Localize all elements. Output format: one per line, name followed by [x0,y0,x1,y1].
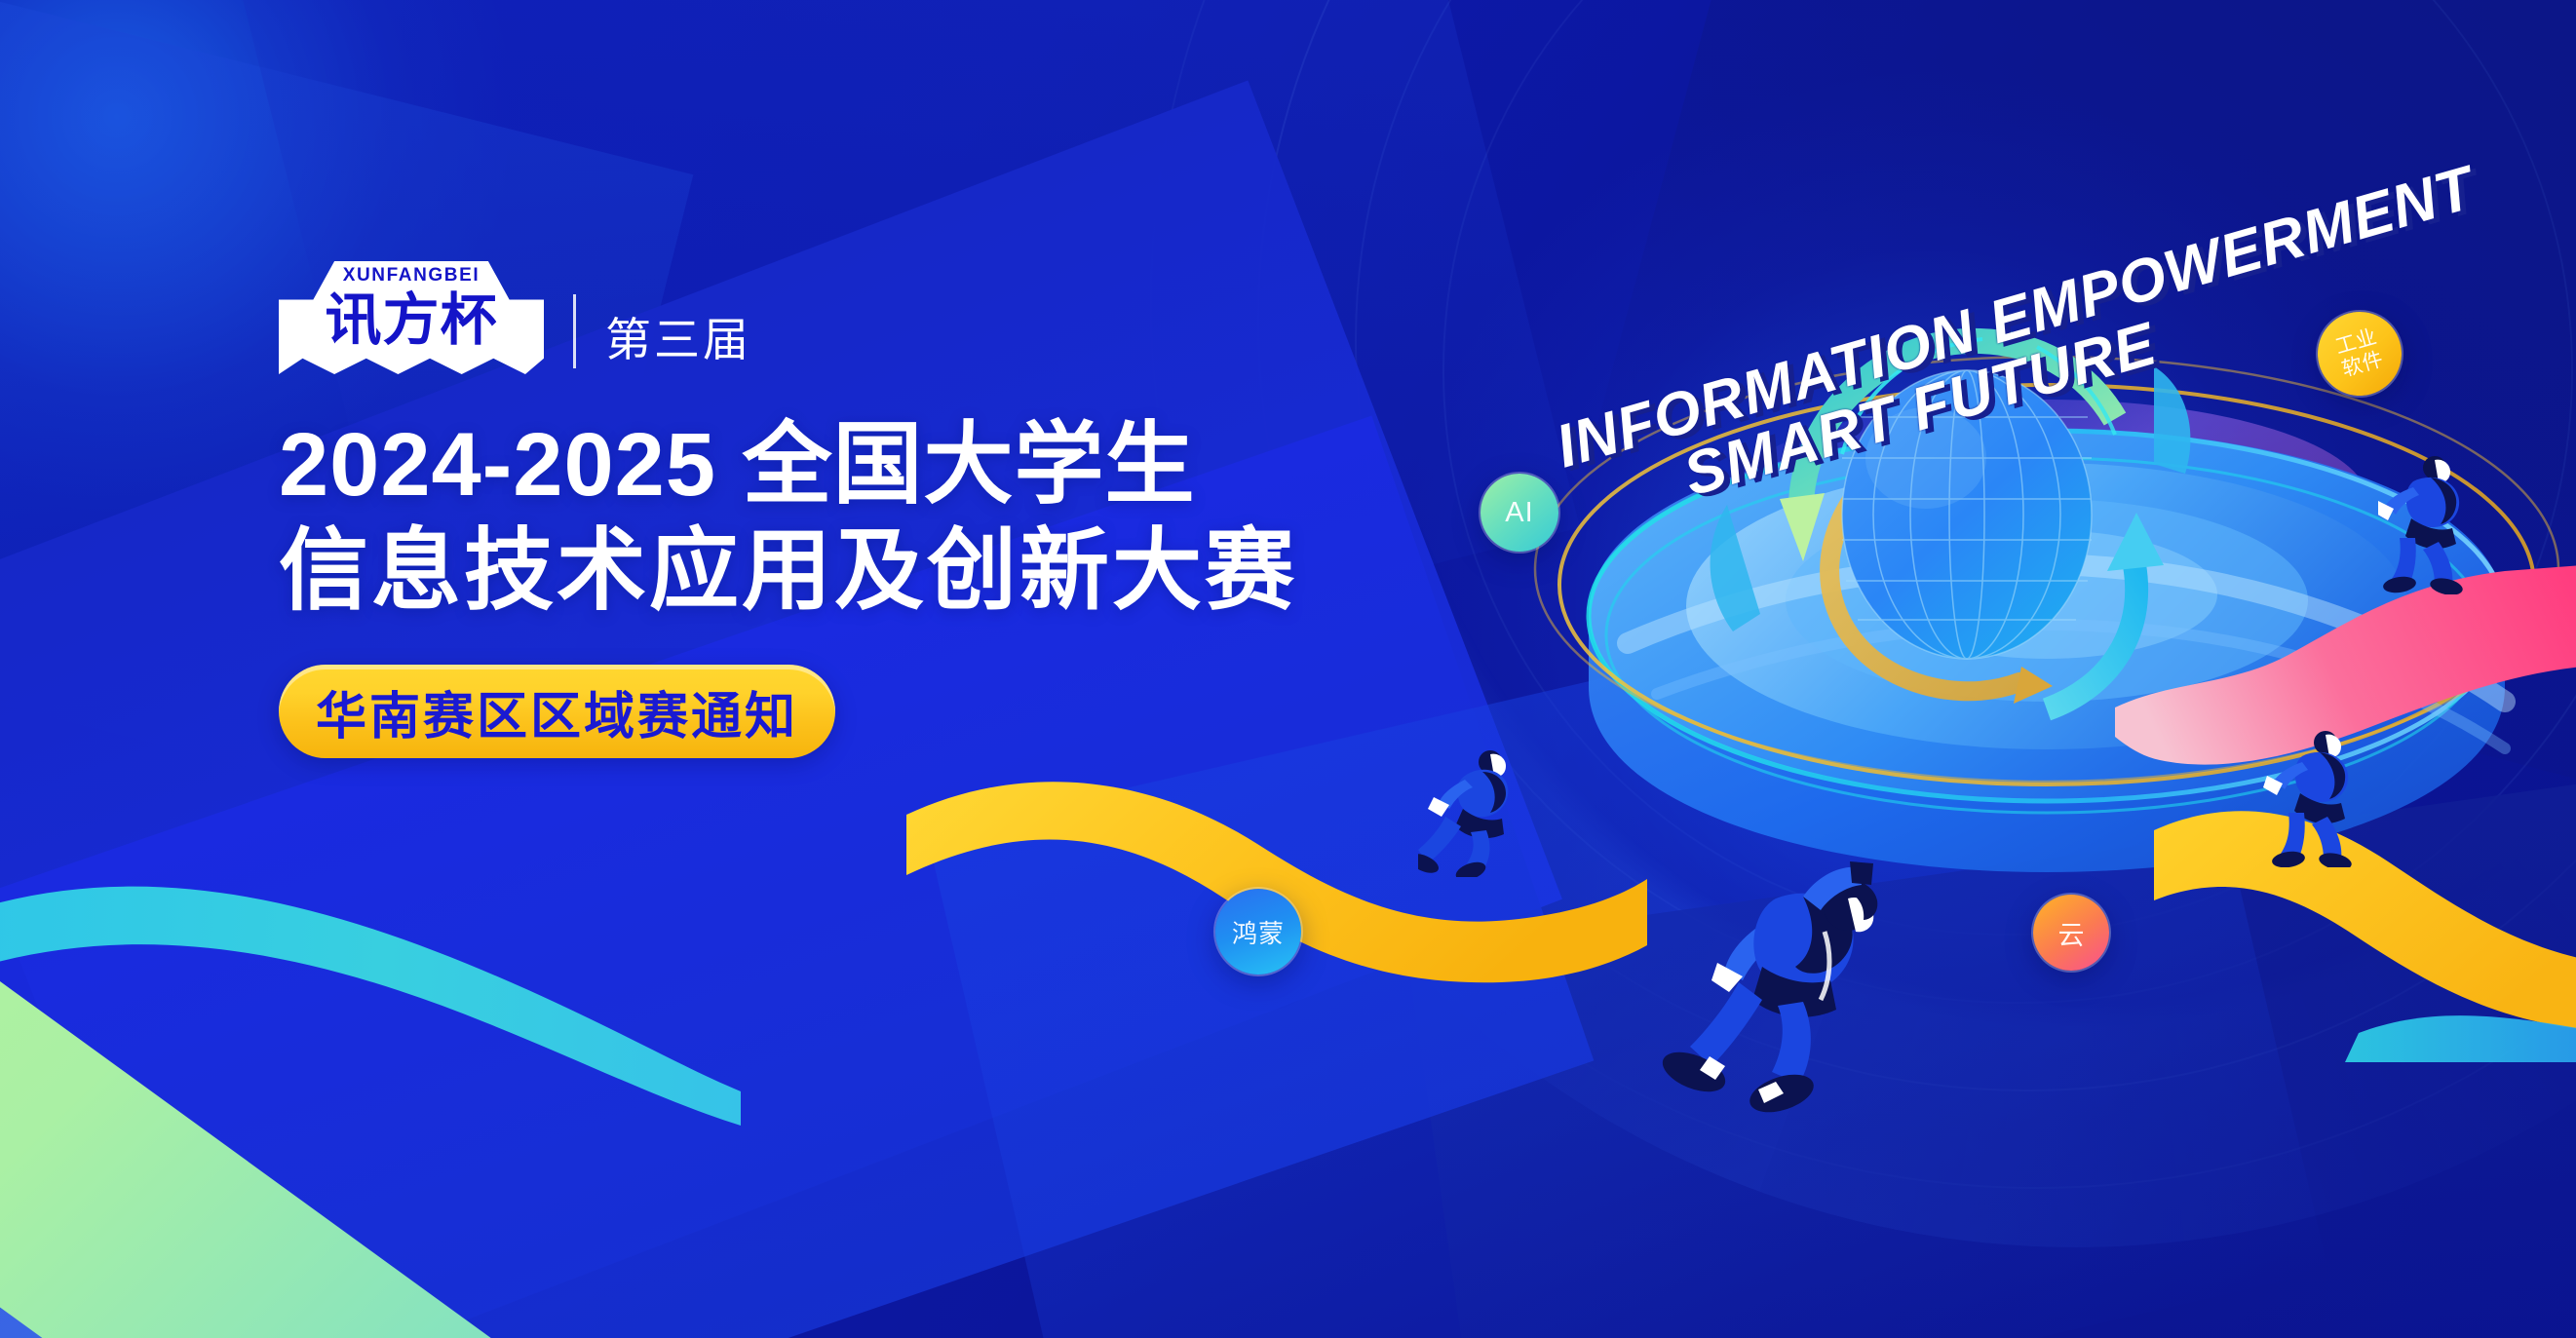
keyword-bubble-harmony[interactable]: 鸿蒙 [1215,889,1301,975]
main-title-line-2: 信息技术应用及创新大赛 [279,521,1604,622]
region-notice-pill[interactable]: 华南赛区区域赛通知 [279,665,835,758]
logo-english-text: XUNFANGBEI [343,266,481,285]
promotional-banner: INFORMATION EMPOWERMENT SMART FUTURE AI … [0,0,2576,1338]
runner-figure-bottom-right [2261,721,2383,867]
edition-label: 第三届 [605,317,751,363]
runner-figure-main [1657,838,1910,1160]
bubble-label-cloud: 云 [2058,914,2085,952]
runner-figure-left [1418,741,1530,877]
logo-chinese-text: 讯方杯 [325,292,497,349]
logo-divider [573,294,576,368]
bubble-label-harmony: 鸿蒙 [1232,914,1285,950]
region-notice-label: 华南赛区区域赛通知 [316,675,798,748]
runner-figure-top-right [2378,448,2500,594]
main-title-line-1: 2024-2025 全国大学生 [279,415,1604,516]
keyword-bubble-cloud[interactable]: 云 [2033,895,2109,971]
text-content-block: XUNFANGBEI 讯方杯 第三届 2024-2025 全国大学生 信息技术应… [279,261,1604,758]
yellow-ribbon-decoration [906,750,1647,1013]
xunfangbei-logo-badge: XUNFANGBEI 讯方杯 [279,261,544,374]
logo-row: XUNFANGBEI 讯方杯 第三届 [279,261,1604,374]
